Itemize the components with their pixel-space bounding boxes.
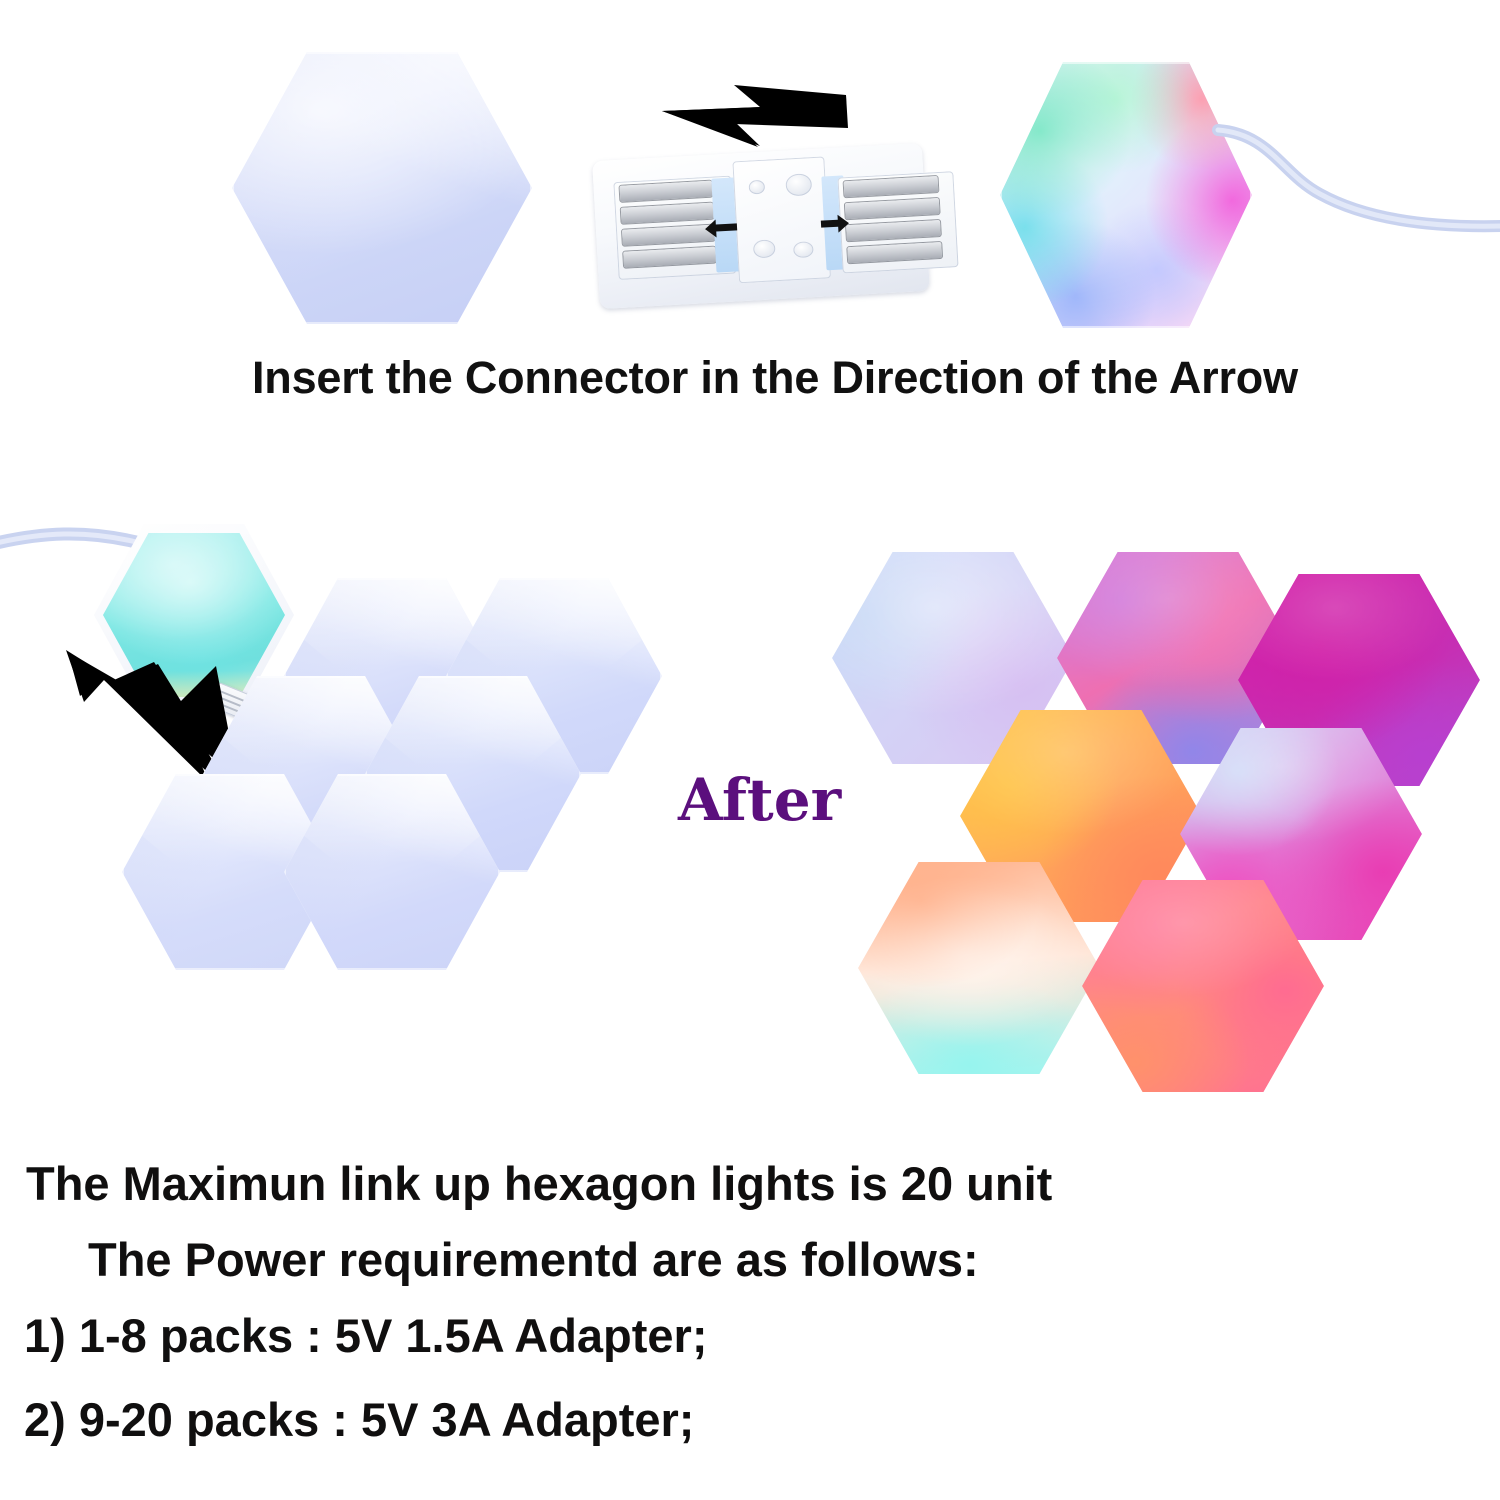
bottom-text-line-2: The Power requirementd are as follows: bbox=[88, 1232, 979, 1287]
bottom-text-line-4: 2) 9-20 packs : 5V 3A Adapter; bbox=[24, 1392, 694, 1447]
connector-mini-arrow-right bbox=[819, 213, 850, 235]
power-cable-top-right bbox=[1210, 108, 1500, 258]
bottom-text-line-1: The Maximun link up hexagon lights is 20… bbox=[26, 1156, 1052, 1211]
direction-arrow-left bbox=[660, 74, 850, 150]
connector-mini-arrow-left bbox=[704, 217, 739, 239]
unlit-hexagon-panel bbox=[232, 52, 532, 324]
after-label: After bbox=[678, 766, 841, 834]
top-caption: Insert the Connector in the Direction of… bbox=[252, 352, 1298, 404]
connector-pads-right bbox=[844, 176, 942, 263]
connector-pads-left bbox=[620, 181, 716, 268]
product-instruction-image: Insert the Connector in the Direction of… bbox=[0, 0, 1500, 1500]
hexagon-light-connector bbox=[592, 143, 930, 309]
bottom-text-line-3: 1) 1-8 packs : 5V 1.5A Adapter; bbox=[24, 1308, 708, 1363]
